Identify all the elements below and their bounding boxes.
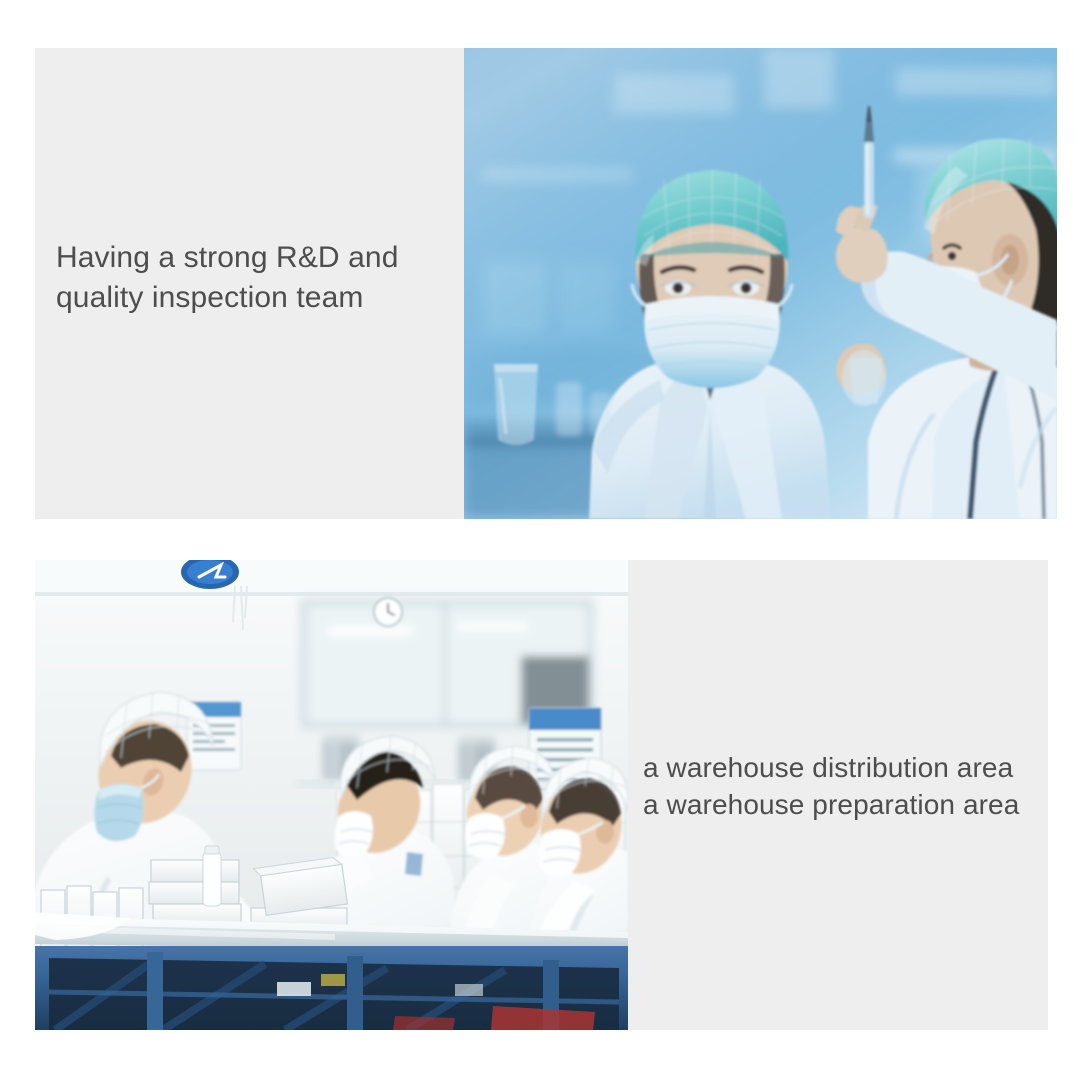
caption-top: Having a strong R&D and quality inspecti… [56, 238, 456, 317]
warehouse-packing-photo [35, 560, 628, 1030]
page-root: Having a strong R&D and quality inspecti… [0, 0, 1080, 1080]
lab-scene-illustration [464, 48, 1057, 519]
warehouse-scene-illustration [35, 560, 628, 1030]
panel-bottom: a warehouse distribution area a warehous… [35, 560, 1048, 1030]
panel-top: Having a strong R&D and quality inspecti… [35, 48, 1057, 519]
caption-bottom: a warehouse distribution area a warehous… [643, 750, 1053, 824]
lab-quality-inspection-photo [464, 48, 1057, 519]
